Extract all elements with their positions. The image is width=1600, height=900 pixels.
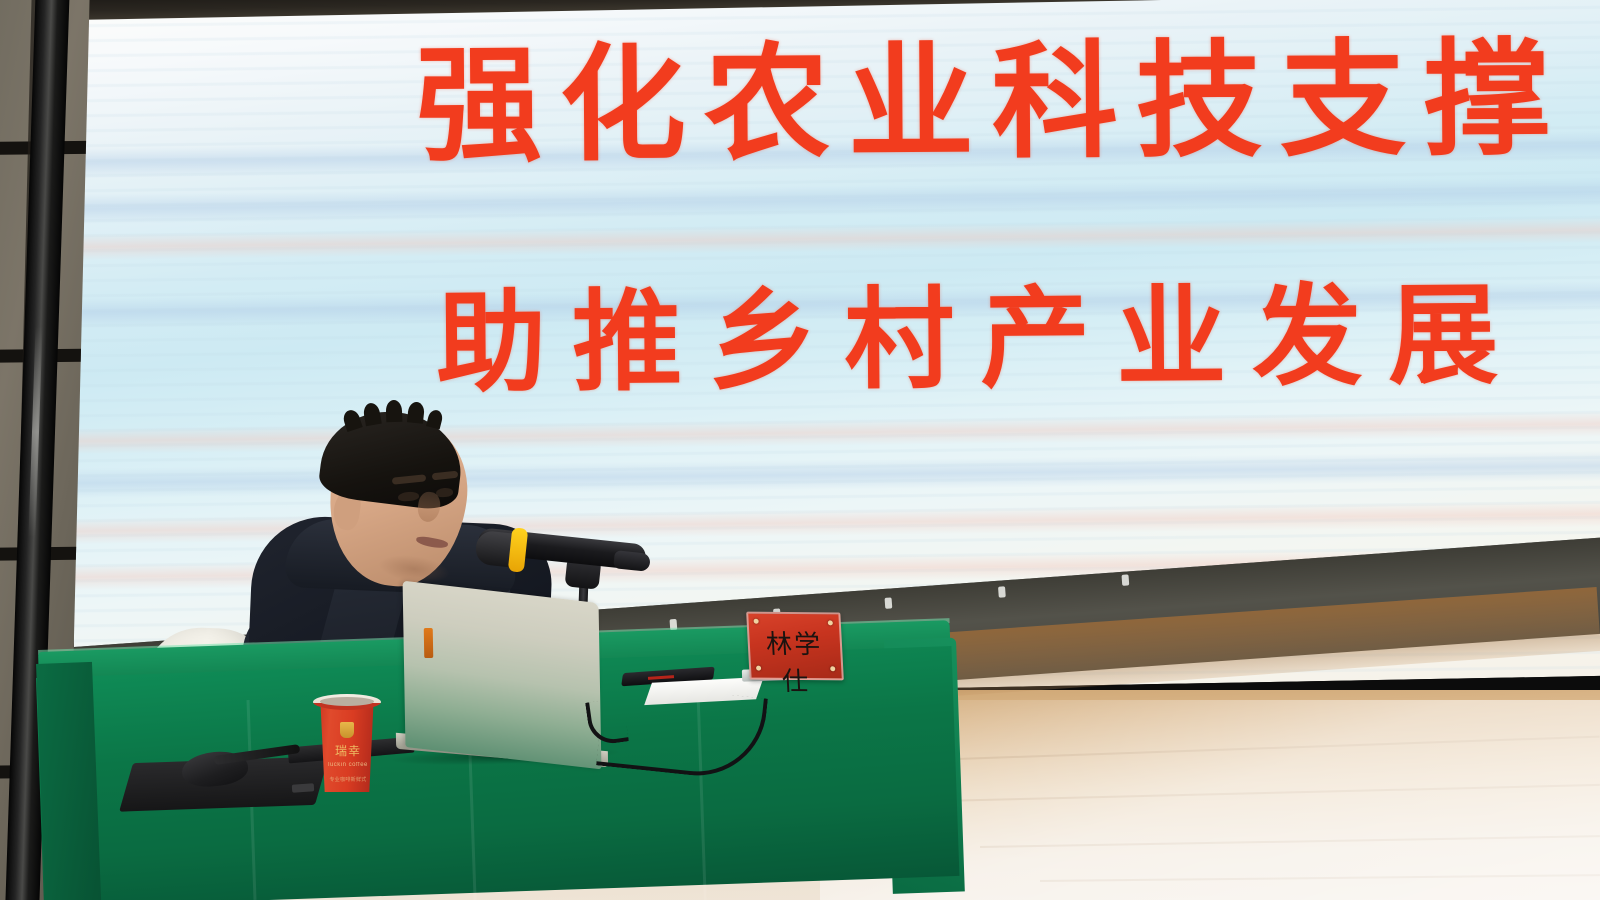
placard-name-text: 林学仕 (752, 624, 838, 699)
cup-brand-text: 瑞幸 (320, 742, 376, 759)
cup-sub-text: luckin coffee (320, 762, 376, 768)
screen-title-line-2: 助推乡村产业发展 (436, 245, 1525, 414)
table-cloth-left-side (36, 662, 101, 900)
cup-fine-print: 专业咖啡新鲜式 (318, 776, 378, 783)
screen-title-line-1: 强化农业科技支撑 (415, 0, 1568, 186)
cup-brand-logo-icon (340, 722, 354, 738)
microphone-tail (613, 550, 651, 572)
small-clip (292, 783, 315, 793)
lenovo-badge-icon (424, 628, 434, 658)
cup-rim-inner (320, 697, 374, 706)
laptop-lid[interactable] (403, 581, 602, 770)
photo-scene: 强化农业科技支撑 助推乡村产业发展 (0, 0, 1600, 900)
